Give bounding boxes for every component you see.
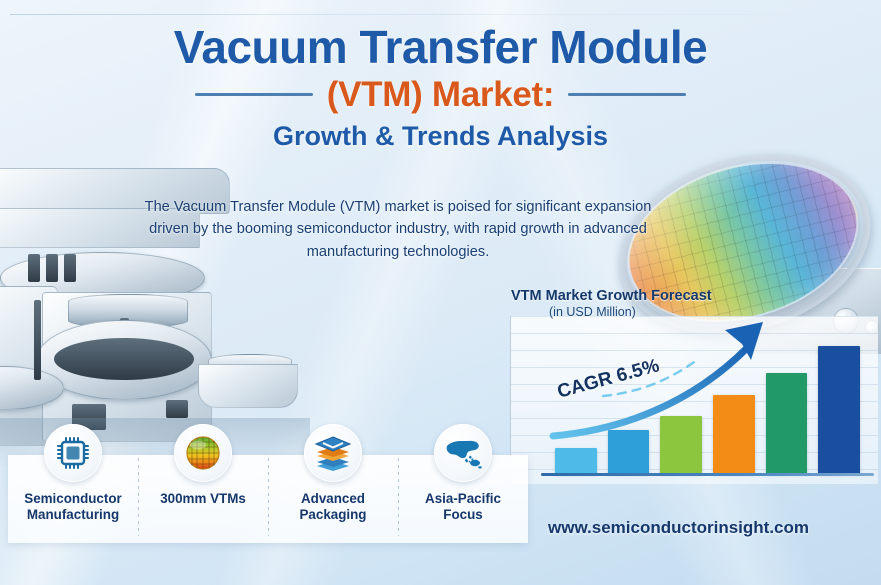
title-line-2: (VTM) Market: [327, 75, 555, 115]
bar-6 [818, 346, 860, 474]
bar-2 [608, 430, 650, 474]
lede-paragraph: The Vacuum Transfer Module (VTM) market … [142, 196, 654, 263]
feature-300mm-vtms[interactable]: 300mm VTMs [138, 424, 268, 544]
chart-baseline [541, 473, 874, 476]
title-line-1: Vacuum Transfer Module [0, 24, 881, 71]
feature-asia-pacific-focus[interactable]: Asia-PacificFocus [398, 424, 528, 544]
feature-list: SemiconductorManufacturing [8, 424, 528, 544]
top-hairline [10, 14, 871, 15]
website-url[interactable]: www.semiconductorinsight.com [548, 518, 809, 538]
chart-panel: VTM Market Growth Forecast (in USD Milli… [510, 316, 878, 484]
bar-3 [660, 416, 702, 474]
bar-5 [766, 373, 808, 474]
feature-advanced-packaging[interactable]: AdvancedPackaging [268, 424, 398, 544]
page-title: Vacuum Transfer Module (VTM) Market: Gro… [0, 24, 881, 152]
asia-pacific-map-icon [434, 424, 492, 482]
feature-label: Asia-PacificFocus [425, 491, 501, 524]
feature-label: SemiconductorManufacturing [24, 491, 121, 524]
microchip-icon [44, 424, 102, 482]
title-line-3: Growth & Trends Analysis [0, 121, 881, 152]
feature-semiconductor-manufacturing[interactable]: SemiconductorManufacturing [8, 424, 138, 544]
chart-bars [555, 334, 860, 474]
feature-label: AdvancedPackaging [300, 491, 367, 524]
title-rule-left [195, 93, 313, 96]
feature-label: 300mm VTMs [160, 491, 246, 507]
bar-4 [713, 395, 755, 474]
title-rule-right [568, 93, 686, 96]
infographic-canvas: Vacuum Transfer Module (VTM) Market: Gro… [0, 0, 881, 585]
stacked-layers-icon [304, 424, 362, 482]
wafer-globe-icon [174, 424, 232, 482]
bar-1 [555, 448, 597, 474]
